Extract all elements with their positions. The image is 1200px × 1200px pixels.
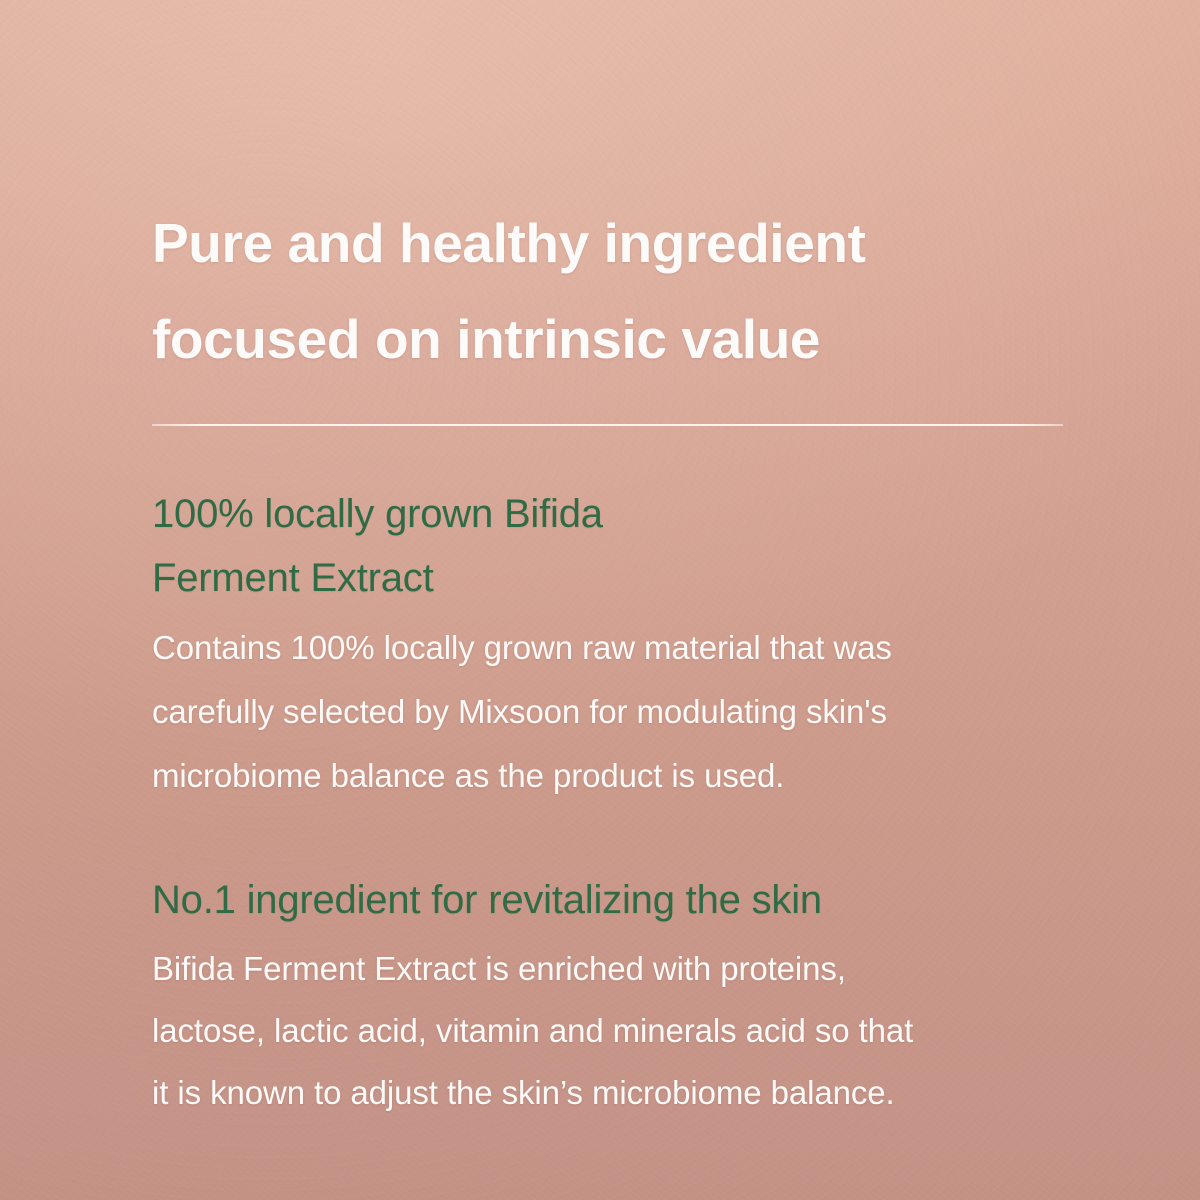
section-title-bifida-ferment-extract: 100% locally grown Bifida Ferment Extrac… xyxy=(152,482,1067,610)
page-title: Pure and healthy ingredient focused on i… xyxy=(152,195,1067,387)
divider-rule xyxy=(152,424,1063,426)
ingredient-section-bifida-ferment-extract: 100% locally grown Bifida Ferment Extrac… xyxy=(152,482,1067,808)
content-column: Pure and healthy ingredient focused on i… xyxy=(152,0,1067,1200)
section-body-revitalizing-skin: Bifida Ferment Extract is enriched with … xyxy=(152,938,1067,1124)
section-title-revitalizing-skin: No.1 ingredient for revitalizing the ski… xyxy=(152,868,1067,932)
ingredient-section-revitalizing-skin: No.1 ingredient for revitalizing the ski… xyxy=(152,868,1067,1124)
product-ingredient-panel: Pure and healthy ingredient focused on i… xyxy=(0,0,1200,1200)
section-body-bifida-ferment-extract: Contains 100% locally grown raw material… xyxy=(152,616,1067,808)
